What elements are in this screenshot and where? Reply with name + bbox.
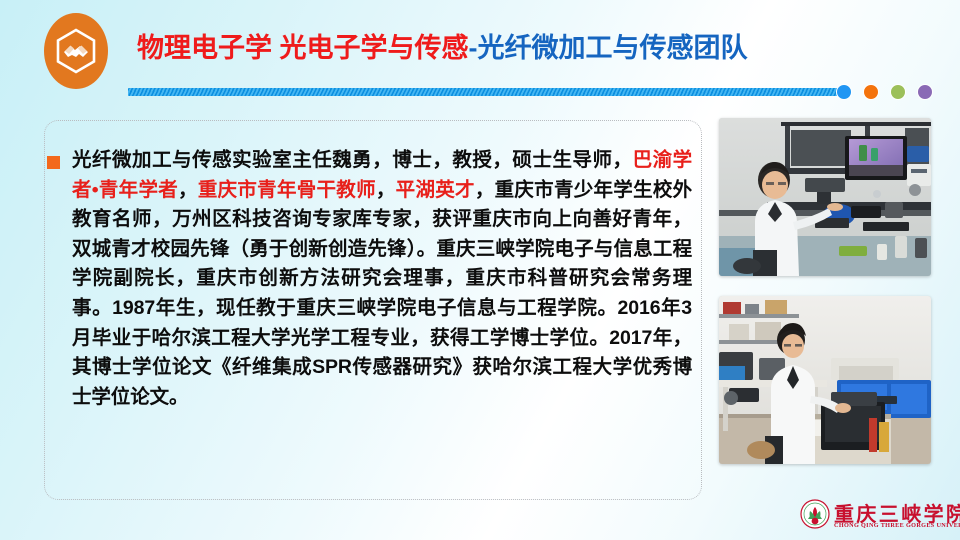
university-logo: 重庆三峡学院 CHONG QING THREE GORGES UNIVERSIT… (800, 498, 948, 536)
decorative-dot-green (890, 84, 906, 100)
presentation-slide: 物理电子学 光电子学与传感-光纤微加工与传感团队 光纤微加工与传感实验室主任魏勇… (0, 0, 960, 540)
page-title: 物理电子学 光电子学与传感-光纤微加工与传感团队 (137, 35, 748, 62)
photo-lab-room (719, 296, 931, 464)
bio-segment-3: 重庆市青年骨干教师 (198, 179, 376, 201)
page-title-secondary: -光纤微加工与传感团队 (469, 33, 748, 63)
decorative-dot-orange (863, 84, 879, 100)
header-divider (128, 88, 838, 96)
bullet-marker (47, 156, 60, 169)
biography-paragraph: 光纤微加工与传感实验室主任魏勇，博士，教授，硕士生导师，巴渝学者•青年学者，重庆… (72, 146, 692, 412)
photo-lab-bench (719, 118, 931, 276)
decorative-dot-blue (836, 84, 852, 100)
bio-segment-4: ， (376, 179, 396, 201)
bio-segment-5: 平湖英才 (396, 179, 475, 201)
handshake-hexagon-icon (44, 13, 108, 89)
university-name-en: CHONG QING THREE GORGES UNIVERSITY (834, 522, 960, 529)
bio-segment-6: ，重庆市青少年学生校外教育名师，万州区科技咨询专家库专家，获评重庆市向上向善好青… (72, 179, 692, 408)
bio-segment-2: ， (178, 179, 198, 201)
university-crest-icon (800, 499, 830, 529)
decorative-dot-group (836, 84, 944, 102)
decorative-dot-purple (917, 84, 933, 100)
bio-segment-0: 光纤微加工与传感实验室主任魏勇，博士，教授，硕士生导师， (72, 149, 633, 171)
page-title-primary: 物理电子学 光电子学与传感 (137, 33, 469, 63)
